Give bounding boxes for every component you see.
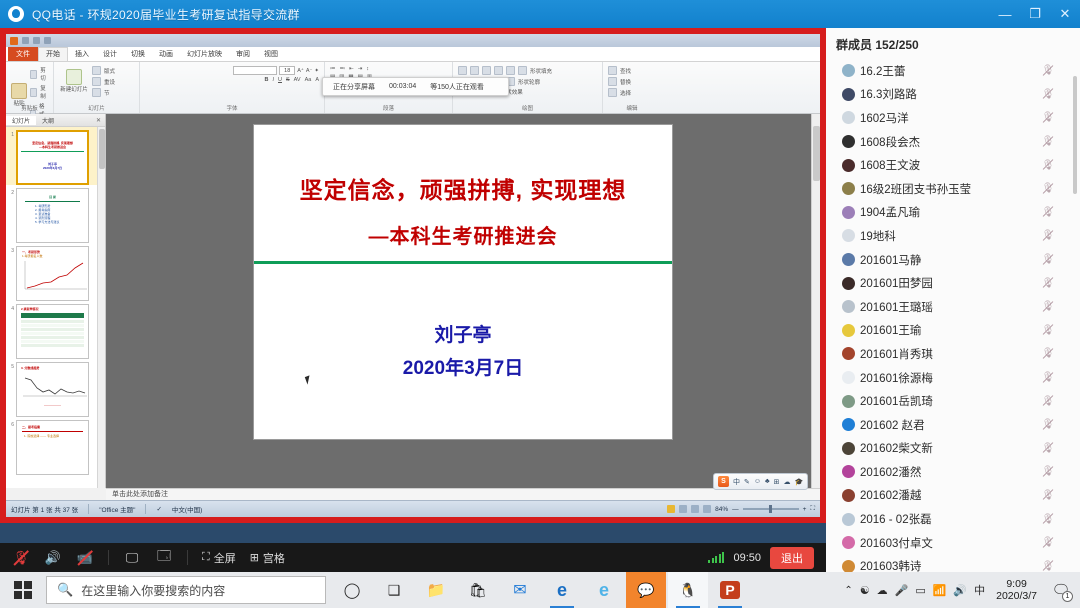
battery-icon[interactable]: ▭ — [915, 584, 925, 597]
member-row[interactable]: 201602潘越🎙 — [826, 484, 1080, 508]
member-name: 2016 - 02张磊 — [860, 511, 932, 527]
layout-button[interactable]: 版式 — [92, 66, 115, 75]
notification-center-icon[interactable]: 🗨 1 — [1048, 572, 1074, 608]
speaker-icon[interactable]: 🔊 — [44, 549, 62, 567]
slide-divider-rule — [254, 261, 672, 264]
windows-logo-icon — [14, 581, 32, 599]
thumbnail-number: 1 — [8, 130, 14, 138]
shape-arrow-icon[interactable] — [482, 66, 491, 75]
member-row[interactable]: 201603韩诗🎙 — [826, 554, 1080, 572]
member-row[interactable]: 201601王瑜🎙 — [826, 319, 1080, 343]
member-name: 1904孟凡瑜 — [860, 204, 920, 220]
avatar — [842, 418, 855, 431]
grow-font-button[interactable]: A⁺ — [297, 68, 304, 74]
thumbnail-preview: 一、考研形势 1.考研报名人数 — [16, 246, 89, 301]
ime-skin-icon[interactable]: ♣ — [765, 478, 770, 485]
avatar — [842, 111, 855, 124]
screen: QQ电话 - 环规2020届毕业生考研复试指导交流群 — ❐ ✕ 文件 开始 插… — [0, 0, 1080, 608]
presentation-icon[interactable]: 🗔 — [155, 549, 173, 567]
member-row[interactable]: 16.3刘路路🎙 — [826, 83, 1080, 107]
member-mic-muted-icon[interactable]: 🎙 — [1042, 489, 1054, 501]
member-mic-muted-icon[interactable]: 🎙 — [1042, 442, 1054, 454]
ime-cloud-icon[interactable]: ☁ — [784, 478, 791, 486]
cut-button[interactable]: 剪切 — [30, 66, 48, 82]
tab-review[interactable]: 审阅 — [229, 48, 257, 61]
view-reading-button[interactable] — [691, 505, 699, 513]
share-duration: 00:03:04 — [389, 83, 416, 90]
bold-button[interactable]: B — [264, 77, 268, 83]
change-case-button[interactable]: Aa — [305, 77, 312, 83]
qq-logo-icon — [8, 6, 24, 22]
thumbnail-slide-6[interactable]: 6 二、报考指南 1. 院校选择 —— 专业选择 — [6, 417, 105, 475]
member-row[interactable]: 2016 - 02张磊🎙 — [826, 507, 1080, 531]
tab-outline[interactable]: 大纲 — [36, 116, 60, 125]
thumb-title: 二、报考指南 — [17, 425, 88, 429]
arrange-icon[interactable] — [506, 66, 515, 75]
avatar — [842, 88, 855, 101]
tab-file[interactable]: 文件 — [8, 47, 38, 61]
powerpoint-taskbar-icon[interactable]: P — [710, 572, 750, 608]
member-row[interactable]: 201601马静🎙 — [826, 248, 1080, 272]
group-name: 环规2020届毕业生考研复试指导交流群 — [87, 8, 299, 22]
tab-insert[interactable]: 插入 — [68, 48, 96, 61]
microphone-icon[interactable]: 🎙 — [12, 549, 30, 567]
microsoft-edge-icon[interactable]: e — [542, 572, 582, 608]
strikethrough-button[interactable]: S — [286, 77, 290, 83]
volume-icon[interactable]: 🔊 — [953, 584, 967, 597]
increase-indent-button[interactable]: ⇥ — [358, 66, 363, 72]
copy-icon — [30, 88, 37, 97]
share-viewers: 等150人正在观看 — [430, 82, 484, 92]
avatar — [842, 182, 855, 195]
view-sorter-button[interactable] — [679, 505, 687, 513]
member-mic-muted-icon[interactable]: 🎙 — [1042, 112, 1054, 124]
member-row[interactable]: 201602潘然🎙 — [826, 460, 1080, 484]
ribbon-tabs: 文件 开始 插入 设计 切换 动画 幻灯片放映 审阅 视图 — [6, 47, 820, 62]
member-mic-muted-icon[interactable]: 🎙 — [1042, 395, 1054, 407]
member-mic-muted-icon[interactable]: 🎙 — [1042, 560, 1054, 572]
group-label-font: 字体 — [140, 104, 324, 112]
thumbnail-pane-tabs: 幻灯片 大纲 ✕ — [6, 114, 105, 127]
thumb-lines: 1. 考研形势 2. 报考指南 3. 复试准备 4. 调剂流程 5. 学习方法与… — [17, 204, 88, 224]
member-row[interactable]: 1608王文波🎙 — [826, 153, 1080, 177]
group-member-panel[interactable]: 群成员 152/250 16.2王蕾🎙16.3刘路路🎙1602马洋🎙1608段会… — [826, 28, 1080, 572]
current-slide[interactable]: 坚定信念，顽强拼搏, 实现理想 —本科生考研推进会 刘子亭 2020年3月7日 — [253, 124, 673, 440]
new-slide-icon — [66, 69, 82, 85]
member-mic-muted-icon[interactable]: 🎙 — [1042, 419, 1054, 431]
window-title: QQ电话 - 环规2020届毕业生考研复试指导交流群 — [32, 6, 300, 23]
group-label-editing: 编辑 — [603, 104, 661, 112]
member-row[interactable]: 16.2王蕾🎙 — [826, 59, 1080, 83]
avatar — [842, 159, 855, 172]
member-name: 201601徐源梅 — [860, 370, 933, 386]
member-name: 201602潘越 — [860, 487, 921, 503]
thumbnail-slide-2[interactable]: 2 目 录 1. 考研形势 2. 报考指南 3. 复试准备 4. 调剂流程 5.… — [6, 185, 105, 243]
font-color-button[interactable]: A — [315, 77, 319, 83]
qat-save-icon[interactable] — [22, 37, 29, 44]
avatar — [842, 371, 855, 384]
minimize-button[interactable]: — — [990, 0, 1020, 28]
member-row[interactable]: 201601徐源梅🎙 — [826, 366, 1080, 390]
slide-date[interactable]: 2020年3月7日 — [264, 353, 662, 380]
scissors-icon — [30, 70, 37, 79]
shape-fill-label[interactable]: 形状填充 — [530, 67, 552, 75]
qq-taskbar-icon[interactable]: 🐧 — [668, 572, 708, 608]
qat-undo-icon[interactable] — [33, 37, 40, 44]
slide-scrollbar-thumb[interactable] — [813, 126, 820, 181]
member-name: 201602柴文新 — [860, 440, 933, 456]
group-label-slides: 幻灯片 — [54, 104, 139, 112]
wifi-icon[interactable]: 📶 — [933, 584, 947, 597]
qat-redo-icon[interactable] — [44, 37, 51, 44]
member-row[interactable]: 201602 赵君🎙 — [826, 413, 1080, 437]
leave-call-button[interactable]: 退出 — [770, 547, 814, 569]
thumbnail-slide-3[interactable]: 3 一、考研形势 1.考研报名人数 — [6, 243, 105, 301]
screen-share-status-banner: 正在分享屏幕 00:03:04 等150人正在观看 — [322, 77, 509, 96]
slide-editing-stage[interactable]: 坚定信念，顽强拼搏, 实现理想 —本科生考研推进会 刘子亭 2020年3月7日 — [106, 114, 820, 488]
thumbnail-preview: 3. 分数线趋势 ──────── — [16, 362, 89, 417]
sogou-tray-icon[interactable]: ☯ — [860, 584, 870, 597]
member-name: 201603韩诗 — [860, 558, 921, 572]
member-name: 1602马洋 — [860, 110, 909, 126]
ime-toolbox-icon[interactable]: 🎓 — [795, 478, 804, 486]
avatar — [842, 442, 855, 455]
theme-name: "Office 主题" — [99, 504, 135, 514]
member-row[interactable]: 201603付卓文🎙 — [826, 531, 1080, 555]
mail-icon[interactable]: ✉ — [500, 572, 540, 608]
avatar — [842, 347, 855, 360]
grid-icon: ⊞ — [250, 551, 259, 564]
member-name: 201602潘然 — [860, 464, 921, 480]
avatar — [842, 560, 855, 572]
title-separator: - — [80, 8, 84, 22]
member-row[interactable]: 1608段会杰🎙 — [826, 130, 1080, 154]
avatar — [842, 64, 855, 77]
thumb-chart-icon — [17, 258, 89, 292]
zoom-slider[interactable] — [743, 508, 799, 510]
avatar — [842, 395, 855, 408]
thumb-table-icon — [21, 320, 84, 347]
maximize-button[interactable]: ❐ — [1020, 0, 1050, 28]
ribbon-group-editing: 查找 替换 选择 编辑 — [603, 62, 661, 113]
member-mic-muted-icon[interactable]: 🎙 — [1042, 324, 1054, 336]
magnifier-icon — [608, 66, 617, 75]
search-placeholder: 在这里输入你要搜索的内容 — [81, 582, 225, 599]
member-name: 201602 赵君 — [860, 417, 925, 433]
member-row[interactable]: 201601田梦园🎙 — [826, 271, 1080, 295]
slide-scrollbar[interactable] — [811, 114, 820, 488]
member-list[interactable]: 16.2王蕾🎙16.3刘路路🎙1602马洋🎙1608段会杰🎙1608王文波🎙16… — [826, 59, 1080, 572]
avatar — [842, 206, 855, 219]
thumbnail-slide-4[interactable]: 4 2.录取率情况 — [6, 301, 105, 359]
tab-slides-thumbnails[interactable]: 幻灯片 — [6, 116, 36, 125]
member-list-scrollbar[interactable] — [1073, 76, 1077, 194]
zoom-slider-handle[interactable] — [769, 505, 772, 513]
share-status-text: 正在分享屏幕 — [333, 82, 375, 92]
member-mic-muted-icon[interactable]: 🎙 — [1042, 513, 1054, 525]
fit-to-window-button[interactable]: ⛶ — [810, 505, 815, 513]
member-name: 1608段会杰 — [860, 134, 920, 150]
call-control-right: 09:50 退出 — [708, 547, 814, 569]
shared-screen-viewport[interactable]: 文件 开始 插入 设计 切换 动画 幻灯片放映 审阅 视图 粘贴 — [0, 28, 826, 543]
underline-button[interactable]: U — [278, 77, 282, 83]
shape-rect-icon[interactable] — [458, 66, 467, 75]
zoom-level: 84% — [715, 506, 728, 513]
show-hidden-icons-icon[interactable]: ⌃ — [844, 585, 852, 596]
thumb-title: 目 录 — [17, 195, 88, 199]
member-name: 201601田梦园 — [860, 275, 933, 291]
signal-strength-icon — [708, 552, 724, 563]
thumbnail-preview: 目 录 1. 考研形势 2. 报考指南 3. 复试准备 4. 调剂流程 5. 学… — [16, 188, 89, 243]
thumbnail-slide-5[interactable]: 5 3. 分数线趋势 ──────── — [6, 359, 105, 417]
thumbnail-preview: 二、报考指南 1. 院校选择 —— 专业选择 — [16, 420, 89, 475]
member-name: 16.2王蕾 — [860, 63, 905, 79]
member-row[interactable]: 1602马洋🎙 — [826, 106, 1080, 130]
italic-button[interactable]: I — [272, 77, 274, 83]
avatar — [842, 465, 855, 478]
bullets-button[interactable]: ≔ — [330, 66, 336, 72]
clock-date: 2020/3/7 — [996, 590, 1037, 602]
thumbnail-scrollbar-thumb[interactable] — [99, 129, 105, 169]
wechat-icon[interactable]: 💬 — [626, 572, 666, 608]
language-indicator[interactable]: 中文(中国) — [172, 504, 202, 514]
avatar — [842, 253, 855, 266]
app-name: QQ电话 — [32, 8, 76, 22]
new-slide-button[interactable]: 新建幻灯片 — [59, 69, 89, 93]
thumbnail-preview: 2.录取率情况 — [16, 304, 89, 359]
ime-emoji-icon[interactable]: ☺ — [754, 478, 761, 485]
onedrive-icon[interactable]: ☁ — [877, 584, 888, 597]
group-label-clipboard: 剪贴板 — [6, 104, 53, 112]
thumb-rule — [21, 151, 84, 152]
line-spacing-button[interactable]: ↕ — [366, 66, 369, 72]
qq-window-titlebar: QQ电话 - 环规2020届毕业生考研复试指导交流群 — ❐ ✕ — [0, 0, 1080, 28]
tab-animations[interactable]: 动画 — [152, 48, 180, 61]
camera-icon[interactable]: 📹 — [76, 549, 94, 567]
view-normal-button[interactable] — [667, 505, 675, 513]
avatar — [842, 229, 855, 242]
slide-author[interactable]: 刘子亭 — [264, 320, 662, 347]
decrease-indent-button[interactable]: ⇤ — [349, 66, 354, 72]
member-row[interactable]: 201601王璐瑶🎙 — [826, 295, 1080, 319]
slide-thumbnail-pane[interactable]: 幻灯片 大纲 ✕ 1 坚定信念，顽强拼搏, 实现理想 —本科生考研推进会 刘子亭… — [6, 114, 106, 488]
clock-time: 9:09 — [996, 578, 1037, 590]
ime-floating-toolbar[interactable]: S 中 ✎ ☺ ♣ ⊞ ☁ 🎓 — [713, 473, 808, 490]
avatar — [842, 135, 855, 148]
member-panel-header: 群成员 152/250 — [826, 28, 1080, 59]
layout-icon — [92, 66, 101, 75]
reset-icon — [92, 77, 101, 86]
member-mic-muted-icon[interactable]: 🎙 — [1042, 466, 1054, 478]
avatar — [842, 489, 855, 502]
tab-transitions[interactable]: 切换 — [124, 48, 152, 61]
member-mic-muted-icon[interactable]: 🎙 — [1042, 136, 1054, 148]
avatar — [842, 536, 855, 549]
member-mic-muted-icon[interactable]: 🎙 — [1042, 348, 1054, 360]
fullscreen-icon: ⛶ — [202, 551, 210, 564]
member-mic-muted-icon[interactable]: 🎙 — [1042, 277, 1054, 289]
shape-oval-icon[interactable] — [494, 66, 503, 75]
member-mic-muted-icon[interactable]: 🎙 — [1042, 65, 1054, 77]
ribbon-group-font: 18 A⁺ A⁻ ✦ B I U S AV Aa A 字体 — [140, 62, 325, 113]
powerpoint-window: 文件 开始 插入 设计 切换 动画 幻灯片放映 审阅 视图 粘贴 — [6, 34, 820, 517]
task-view-icon[interactable]: ❑ — [374, 572, 414, 608]
shrink-font-button[interactable]: A⁻ — [306, 68, 313, 74]
member-mic-muted-icon[interactable]: 🎙 — [1042, 537, 1054, 549]
shape-outline-label[interactable]: 形状轮廓 — [518, 78, 540, 86]
view-slideshow-button[interactable] — [703, 505, 711, 513]
internet-explorer-icon[interactable]: e — [584, 572, 624, 608]
grid-view-button[interactable]: ⊞ 宫格 — [250, 550, 285, 566]
thumb-title: 2.录取率情况 — [17, 307, 88, 311]
call-timer: 09:50 — [733, 552, 761, 564]
replace-button[interactable]: 替换 — [608, 77, 656, 86]
share-screen-icon[interactable]: 🖵 — [123, 549, 141, 567]
avatar — [842, 277, 855, 290]
microsoft-store-icon[interactable]: 🛍 — [458, 572, 498, 608]
find-button[interactable]: 查找 — [608, 66, 656, 75]
shadow-button[interactable]: AV — [294, 77, 301, 83]
member-mic-muted-icon[interactable]: 🎙 — [1042, 230, 1054, 242]
member-mic-muted-icon[interactable]: 🎙 — [1042, 372, 1054, 384]
quick-access-toolbar — [6, 34, 820, 47]
avatar — [842, 300, 855, 313]
thumbnail-preview: 坚定信念，顽强拼搏, 实现理想 —本科生考研推进会 刘子亭 2020年3月7日 — [16, 130, 89, 185]
clear-formatting-button[interactable]: ✦ — [314, 68, 319, 74]
member-row[interactable]: 201601岳凯琦🎙 — [826, 389, 1080, 413]
thumbnail-number: 3 — [8, 246, 14, 254]
reset-button[interactable]: 重设 — [92, 77, 115, 86]
member-mic-muted-icon[interactable]: 🎙 — [1042, 88, 1054, 100]
thumbnail-slide-1[interactable]: 1 坚定信念，顽强拼搏, 实现理想 —本科生考研推进会 刘子亭 2020年3月7… — [6, 127, 105, 185]
font-family-combo[interactable] — [233, 66, 277, 75]
member-row[interactable]: 19地科🎙 — [826, 224, 1080, 248]
system-tray: ⌃ ☯ ☁ 🎤 ▭ 📶 🔊 中 9:09 2020/3/7 🗨 1 — [844, 572, 1080, 608]
member-row[interactable]: 16级2班团支书孙玉莹🎙 — [826, 177, 1080, 201]
usb-icon[interactable]: 🎤 — [895, 584, 909, 597]
ime-indicator[interactable]: 中 — [974, 582, 985, 598]
group-label-drawing: 绘图 — [453, 104, 602, 112]
member-name: 201601马静 — [860, 252, 921, 268]
member-name: 1608王文波 — [860, 157, 920, 173]
member-name: 16级2班团支书孙玉莹 — [860, 181, 971, 197]
thumbnail-number: 4 — [8, 304, 14, 312]
font-size-combo[interactable]: 18 — [279, 66, 295, 75]
member-name: 19地科 — [860, 228, 896, 244]
quick-styles-icon[interactable] — [518, 66, 527, 75]
ribbon-group-slides: 新建幻灯片 版式 重设 — [54, 62, 140, 113]
thumb-date: 2020年3月7日 — [18, 166, 87, 170]
ribbon-group-clipboard: 粘贴 剪切 复制 — [6, 62, 54, 113]
slide-subtitle[interactable]: —本科生考研推进会 — [264, 220, 662, 249]
thumbnail-number: 5 — [8, 362, 14, 370]
thumbnail-scrollbar[interactable] — [97, 127, 105, 488]
member-name: 201603付卓文 — [860, 535, 933, 551]
start-button[interactable] — [0, 572, 46, 608]
member-name: 201601肖秀琪 — [860, 346, 933, 362]
slide-title[interactable]: 坚定信念，顽强拼搏, 实现理想 — [264, 175, 662, 206]
status-right: 84% — + ⛶ — [667, 505, 815, 513]
group-label-paragraph: 段落 — [325, 104, 452, 112]
ppt-app-icon — [10, 37, 18, 45]
tab-design[interactable]: 设计 — [96, 48, 124, 61]
notes-pane[interactable]: 单击此处添加备注 — [106, 488, 820, 500]
slide-indicator: 幻灯片 第 1 张 共 37 张 — [11, 504, 78, 514]
spellcheck-icon[interactable]: ✓ — [156, 505, 161, 513]
copy-button[interactable]: 复制 — [30, 84, 48, 100]
avatar — [842, 513, 855, 526]
close-pane-icon[interactable]: ✕ — [90, 117, 105, 124]
member-mic-muted-icon[interactable]: 🎙 — [1042, 254, 1054, 266]
member-mic-muted-icon[interactable]: 🎙 — [1042, 206, 1054, 218]
numbering-button[interactable]: ≕ — [340, 66, 346, 72]
select-icon — [608, 88, 617, 97]
replace-icon — [608, 77, 617, 86]
section-icon — [92, 88, 101, 97]
member-name: 201601王瑜 — [860, 322, 921, 338]
windows-taskbar: 🔍 在这里输入你要搜索的内容 ◯ ❑ 📁 🛍 ✉ e — [0, 572, 1080, 608]
taskbar-search-input[interactable]: 🔍 在这里输入你要搜索的内容 — [46, 576, 326, 604]
fullscreen-button[interactable]: ⛶ 全屏 — [202, 550, 236, 566]
thumb-subtitle: —本科生考研推进会 — [18, 145, 87, 149]
section-button[interactable]: 节 — [92, 88, 115, 97]
powerpoint-status-bar: 幻灯片 第 1 张 共 37 张 "Office 主题" ✓ 中文(中国) 84… — [6, 500, 820, 517]
tab-view[interactable]: 视图 — [257, 48, 285, 61]
file-explorer-icon[interactable]: 📁 — [416, 572, 456, 608]
thumb-chart2-icon — [17, 370, 89, 403]
member-name: 201601王璐瑶 — [860, 299, 933, 315]
tab-slideshow[interactable]: 幻灯片放映 — [180, 48, 229, 61]
select-button[interactable]: 选择 — [608, 88, 656, 97]
ime-keyboard-icon[interactable]: ⊞ — [774, 478, 780, 486]
member-row[interactable]: 201602柴文新🎙 — [826, 437, 1080, 461]
zoom-out-button[interactable]: — — [732, 506, 739, 513]
taskbar-app-icons: ◯ ❑ 📁 🛍 ✉ e e 💬 — [332, 572, 750, 608]
member-mic-muted-icon[interactable]: 🎙 — [1042, 301, 1054, 313]
tab-home[interactable]: 开始 — [38, 47, 68, 61]
shape-line-icon[interactable] — [470, 66, 479, 75]
ime-pen-icon[interactable]: ✎ — [744, 478, 750, 486]
cortana-icon[interactable]: ◯ — [332, 572, 372, 608]
sogou-logo-icon[interactable]: S — [718, 476, 729, 487]
search-icon: 🔍 — [57, 582, 73, 598]
member-name: 201601岳凯琦 — [860, 393, 933, 409]
close-button[interactable]: ✕ — [1050, 0, 1080, 28]
zoom-in-button[interactable]: + — [803, 506, 807, 513]
window-buttons: — ❐ ✕ — [990, 0, 1080, 28]
notification-badge: 1 — [1062, 591, 1073, 602]
taskbar-clock[interactable]: 9:09 2020/3/7 — [992, 578, 1041, 602]
member-row[interactable]: 201601肖秀琪🎙 — [826, 342, 1080, 366]
thumbnail-number: 6 — [8, 420, 14, 428]
ime-mode-chinese[interactable]: 中 — [733, 477, 740, 487]
member-mic-muted-icon[interactable]: 🎙 — [1042, 159, 1054, 171]
paste-icon — [11, 83, 27, 99]
member-mic-muted-icon[interactable]: 🎙 — [1042, 183, 1054, 195]
member-name: 16.3刘路路 — [860, 86, 917, 102]
member-row[interactable]: 1904孟凡瑜🎙 — [826, 201, 1080, 225]
thumbnail-number: 2 — [8, 188, 14, 196]
call-control-bar: 🎙 🔊 📹 🖵 🗔 ⛶ 全屏 ⊞ 宫格 09:50 退出 — [0, 543, 826, 572]
avatar — [842, 324, 855, 337]
